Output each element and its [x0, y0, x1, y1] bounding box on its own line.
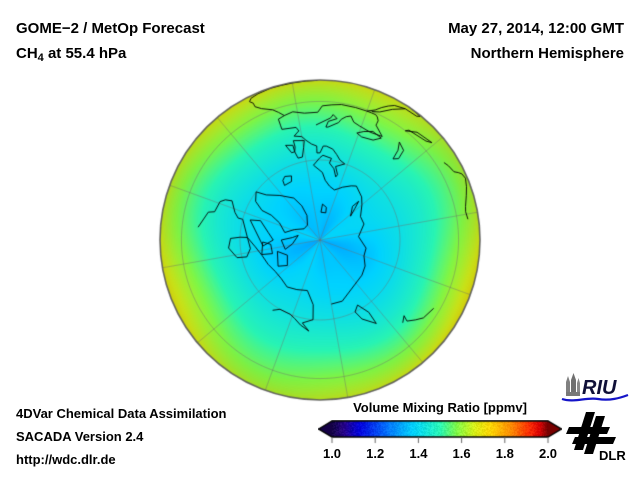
- colorbar-gradient: [318, 420, 562, 444]
- credit-line-url: http://wdc.dlr.de: [16, 448, 227, 471]
- colorbar-tick-1.0: 1.0: [323, 446, 341, 461]
- datetime-label: May 27, 2014, 12:00 GMT: [324, 16, 624, 41]
- header-right: May 27, 2014, 12:00 GMT Northern Hemisph…: [324, 16, 624, 66]
- colorbar-legend: Volume Mixing Ratio [ppmv] 1.01.21.41.61…: [318, 400, 562, 468]
- colorbar-tick-1.2: 1.2: [366, 446, 384, 461]
- cathedral-spires-icon: [566, 373, 580, 396]
- credit-line-version: SACADA Version 2.4: [16, 425, 227, 448]
- dlr-logo: DLR: [566, 410, 628, 467]
- species-label: CH: [16, 45, 38, 62]
- header-left: GOME−2 / MetOp Forecast CH4 at 55.4 hPa: [16, 16, 346, 68]
- pressure-level-label: at 55.4 hPa: [44, 45, 127, 62]
- dlr-logo-svg: DLR: [566, 410, 628, 462]
- hemisphere-label: Northern Hemisphere: [324, 41, 624, 66]
- riu-logo-svg: RIU: [560, 372, 630, 404]
- colorbar-tick-1.6: 1.6: [453, 446, 471, 461]
- species-level-title: CH4 at 55.4 hPa: [16, 41, 346, 68]
- credit-line-method: 4DVar Chemical Data Assimilation: [16, 402, 227, 425]
- colorbar-tick-2.0: 2.0: [539, 446, 557, 461]
- species-subscript: 4: [38, 52, 44, 64]
- riu-logo-text: RIU: [582, 377, 617, 399]
- colorbar-tick-labels: 1.01.21.41.61.82.0: [318, 446, 562, 468]
- globe-map: [158, 78, 482, 402]
- dlr-logo-text: DLR: [599, 448, 626, 462]
- colorbar-tick-1.4: 1.4: [409, 446, 427, 461]
- colorbar-title: Volume Mixing Ratio [ppmv]: [318, 400, 562, 415]
- instrument-title: GOME−2 / MetOp Forecast: [16, 16, 346, 41]
- riu-logo: RIU: [560, 372, 630, 409]
- colorbar-tick-1.8: 1.8: [496, 446, 514, 461]
- globe-canvas: [158, 78, 482, 402]
- credits-block: 4DVar Chemical Data Assimilation SACADA …: [16, 402, 227, 471]
